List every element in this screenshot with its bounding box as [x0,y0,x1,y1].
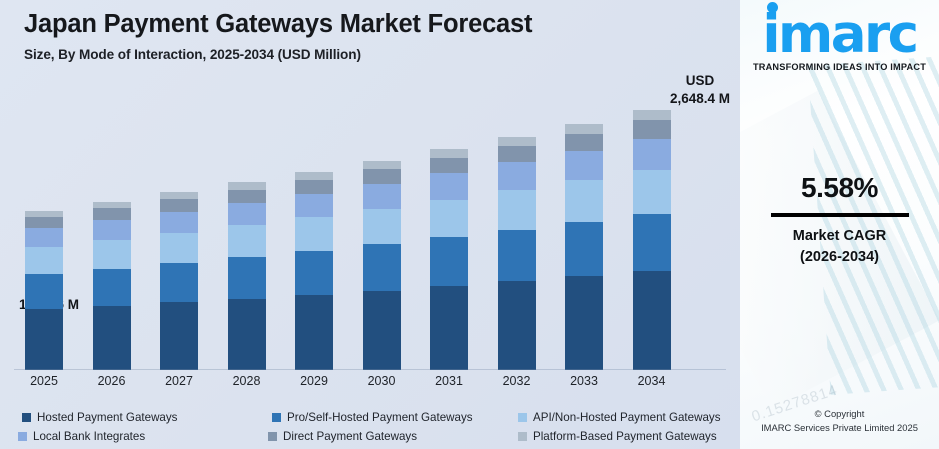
legend-swatch-icon [518,432,527,441]
bar-segment[interactable] [565,151,603,181]
bar-segment[interactable] [498,162,536,190]
legend-swatch-icon [518,413,527,422]
bar-segment[interactable] [93,240,131,269]
bar-segment[interactable] [93,269,131,306]
bar-segment[interactable] [295,295,333,370]
bar-segment[interactable] [25,228,63,247]
legend-label: Platform-Based Payment Gateways [533,430,717,443]
bar-segment[interactable] [295,172,333,180]
bar-segment[interactable] [228,299,266,370]
bar-segment[interactable] [93,202,131,209]
bar-stack[interactable] [430,149,468,370]
bar-segment[interactable] [565,180,603,222]
bar-group[interactable] [498,70,536,370]
bar-segment[interactable] [160,302,198,370]
x-axis-tick-2026: 2026 [82,374,142,388]
bar-segment[interactable] [160,192,198,199]
bar-group[interactable] [25,70,63,370]
bar-segment[interactable] [228,182,266,190]
bar-segment[interactable] [228,225,266,257]
legend-swatch-icon [268,432,277,441]
legend-item[interactable]: Pro/Self-Hosted Payment Gateways [250,408,500,427]
page-title: Japan Payment Gateways Market Forecast [24,10,714,39]
bar-segment[interactable] [633,110,671,120]
bar-segment[interactable] [363,291,401,371]
cagr-value: 5.58% [740,172,939,204]
legend-item[interactable]: Direct Payment Gateways [250,427,500,446]
bar-group[interactable] [633,70,671,370]
x-axis-tick-2030: 2030 [352,374,412,388]
bar-segment[interactable] [160,212,198,233]
company-line: IMARC Services Private Limited 2025 [740,421,939,436]
copyright-line: © Copyright [740,407,939,422]
bar-segment[interactable] [25,247,63,274]
bar-segment[interactable] [498,137,536,146]
bar-stack[interactable] [498,137,536,370]
bar-segment[interactable] [93,208,131,220]
imarc-wordmark-text: imarc [762,4,916,65]
cagr-block: 5.58% Market CAGR (2026-2034) [740,172,939,268]
bar-segment[interactable] [498,190,536,230]
x-axis-tick-2031: 2031 [419,374,479,388]
bar-segment[interactable] [93,306,131,370]
bar-segment[interactable] [430,286,468,370]
x-axis-tick-2033: 2033 [554,374,614,388]
legend-swatch-icon [22,413,31,422]
bar-segment[interactable] [633,120,671,138]
chart-panel: Japan Payment Gateways Market Forecast S… [0,0,740,449]
legend: Hosted Payment GatewaysPro/Self-Hosted P… [0,405,740,449]
bar-segment[interactable] [160,233,198,263]
bar-group[interactable] [160,70,198,370]
bar-segment[interactable] [430,173,468,200]
legend-label: Direct Payment Gateways [283,430,417,443]
x-axis-tick-2028: 2028 [217,374,277,388]
plot-area [0,70,740,370]
bar-segment[interactable] [430,158,468,173]
bar-segment[interactable] [430,200,468,238]
x-axis-tick-2027: 2027 [149,374,209,388]
bar-segment[interactable] [295,251,333,295]
bar-segment[interactable] [295,217,333,251]
chart-subtitle: Size, By Mode of Interaction, 2025-2034 … [24,47,714,62]
legend-label: Pro/Self-Hosted Payment Gateways [287,411,473,424]
legend-label: Local Bank Integrates [33,430,145,443]
bar-stack[interactable] [363,161,401,370]
bar-segment[interactable] [430,237,468,286]
imarc-logo: imarc TRANSFORMING IDEAS INTO IMPACT [740,8,939,72]
bar-segment[interactable] [363,184,401,209]
legend-label: Hosted Payment Gateways [37,411,177,424]
legend-item[interactable]: Platform-Based Payment Gateways [500,427,740,446]
bar-segment[interactable] [295,194,333,218]
bar-segment[interactable] [160,263,198,302]
bar-group[interactable] [295,70,333,370]
bar-segment[interactable] [295,180,333,194]
legend-swatch-icon [272,413,281,422]
legend-label: API/Non-Hosted Payment Gateways [533,411,721,424]
bar-stack[interactable] [228,182,266,370]
bar-segment[interactable] [498,146,536,162]
legend-item[interactable]: Local Bank Integrates [0,427,250,446]
bar-segment[interactable] [633,214,671,271]
bar-segment[interactable] [25,274,63,309]
bar-stack[interactable] [295,172,333,370]
bar-segment[interactable] [363,209,401,245]
bar-segment[interactable] [633,139,671,170]
cagr-label: Market CAGR [740,225,939,247]
bar-group[interactable] [363,70,401,370]
bar-stack[interactable] [160,192,198,370]
bar-segment[interactable] [633,271,671,370]
bar-stack[interactable] [633,110,671,370]
bar-segment[interactable] [363,244,401,290]
bar-segment[interactable] [633,170,671,214]
bar-stack[interactable] [93,202,131,370]
cagr-divider [771,213,909,217]
bar-group[interactable] [565,70,603,370]
bar-segment[interactable] [363,169,401,184]
bar-segment[interactable] [565,222,603,276]
bar-segment[interactable] [228,257,266,298]
bar-segment[interactable] [498,281,536,370]
x-axis-tick-2032: 2032 [487,374,547,388]
bar-segment[interactable] [160,199,198,211]
bar-group[interactable] [228,70,266,370]
brand-panel: 0.15278814 imarc TRANSFORMING IDEAS INTO… [740,0,939,449]
bar-stack[interactable] [565,124,603,370]
bar-segment[interactable] [93,220,131,240]
bar-segment[interactable] [25,309,63,370]
copyright-block: © Copyright IMARC Services Private Limit… [740,407,939,436]
bar-segment[interactable] [498,230,536,281]
imarc-wordmark: imarc [762,8,916,61]
bar-segment[interactable] [25,217,63,228]
bar-segment[interactable] [565,134,603,151]
bar-stack[interactable] [25,211,63,370]
legend-item[interactable]: Hosted Payment Gateways [0,408,250,427]
x-axis-tick-2029: 2029 [284,374,344,388]
x-axis: 2025202620272028202920302031203220332034 [0,370,740,396]
bar-segment[interactable] [565,124,603,134]
bar-group[interactable] [430,70,468,370]
x-axis-tick-2025: 2025 [14,374,74,388]
chart-header: Japan Payment Gateways Market Forecast S… [24,10,714,62]
legend-swatch-icon [18,432,27,441]
bar-segment[interactable] [430,149,468,158]
bar-group[interactable] [93,70,131,370]
bar-segment[interactable] [228,190,266,203]
bar-segment[interactable] [565,276,603,370]
x-axis-tick-2034: 2034 [622,374,682,388]
bar-segment[interactable] [228,203,266,226]
legend-item[interactable]: API/Non-Hosted Payment Gateways [500,408,740,427]
cagr-period: (2026-2034) [740,247,939,268]
bar-segment[interactable] [363,161,401,169]
